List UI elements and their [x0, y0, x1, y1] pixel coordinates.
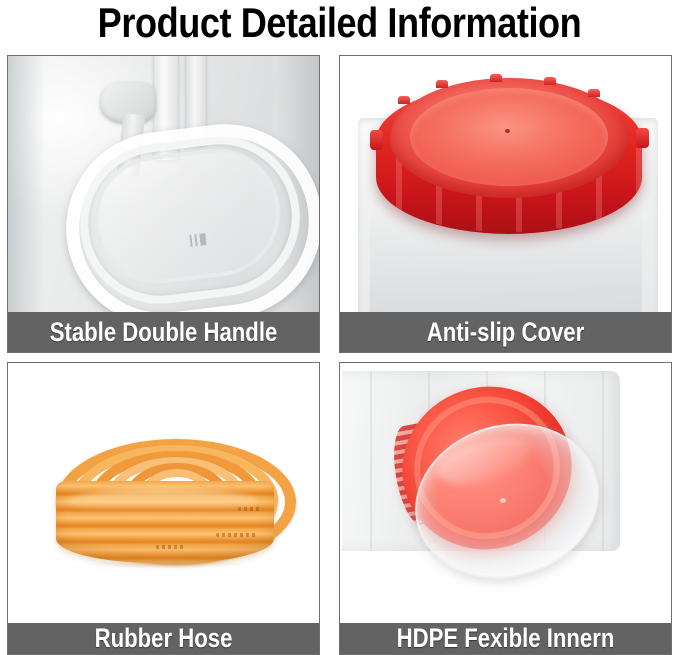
hdpe-liner-photo: [340, 363, 671, 625]
handle-photo: [8, 56, 319, 314]
caption-bar-rubber-hose: Rubber Hose: [8, 623, 319, 654]
caption-bar-stable-double-handle: Stable Double Handle: [8, 312, 319, 352]
caption-label: Rubber Hose: [36, 623, 291, 654]
caption-label: Stable Double Handle: [36, 312, 291, 352]
liner-center-mark: [500, 498, 506, 503]
hose-printed-marking: [238, 507, 260, 511]
cap-rim-nub: [398, 96, 410, 104]
cap-center-mark: [505, 129, 510, 133]
caption-bar-hdpe-flexible-inner: HDPE Fexible Innern: [340, 623, 671, 654]
page-title: Product Detailed Information: [48, 0, 632, 48]
handle-moulding-mark: [189, 233, 206, 247]
cap-rim-nub: [490, 74, 502, 82]
cap-rim-nub: [544, 77, 556, 85]
cap-lug-right: [636, 128, 649, 148]
product-feature-grid: Stable Double Handle Anti-slip Cover: [0, 50, 679, 655]
hose-printed-marking: [156, 545, 186, 549]
hose-photo: [8, 363, 319, 625]
feature-panel-stable-double-handle: Stable Double Handle: [7, 55, 320, 353]
feature-panel-rubber-hose: Rubber Hose: [7, 362, 320, 655]
caption-label: HDPE Fexible Innern: [370, 623, 641, 654]
hose-printed-marking: [216, 533, 256, 537]
container-edge-left: [8, 56, 52, 314]
feature-panel-anti-slip-cover: Anti-slip Cover: [339, 55, 672, 353]
cap-inner-ring: [410, 88, 608, 186]
hose-highlight: [68, 489, 258, 513]
cap-rim-nub: [588, 89, 600, 97]
cap-lug-left: [370, 130, 383, 150]
caption-label: Anti-slip Cover: [370, 312, 641, 352]
caption-bar-anti-slip-cover: Anti-slip Cover: [340, 312, 671, 352]
cap-rim-nub: [436, 80, 448, 88]
feature-panel-hdpe-flexible-inner: HDPE Fexible Innern: [339, 362, 672, 655]
hose-ground-shadow: [54, 559, 278, 571]
cover-photo: [340, 56, 671, 314]
